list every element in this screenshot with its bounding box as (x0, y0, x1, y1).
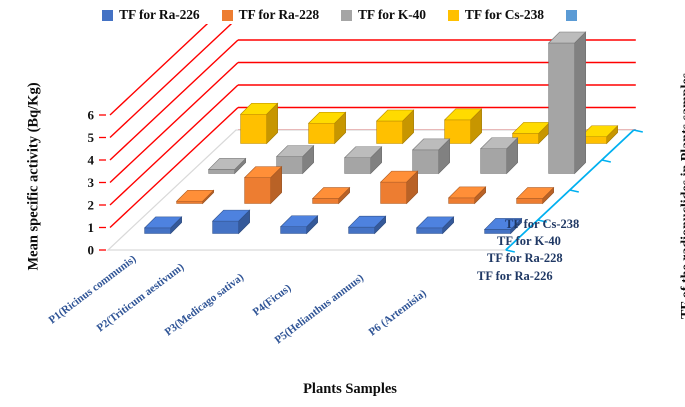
legend-item-cs-238[interactable]: TF for Cs-238 (448, 7, 544, 23)
legend-item-extra[interactable] (566, 10, 583, 21)
legend-swatch-extra (566, 10, 577, 21)
bar-tf-for-cs-238-cat1[interactable] (241, 103, 278, 143)
legend-item-k-40[interactable]: TF for K-40 (341, 7, 426, 23)
y-tick-1: 1 (88, 220, 95, 235)
bar-tf-for-k-40-cat4[interactable] (413, 139, 450, 174)
x-axis-label-3: P3(Medicago sativa) (163, 271, 247, 338)
y-ticks-group: 6543210 (88, 108, 107, 258)
x-axis-label-6: P6 (Artemisia) (367, 287, 429, 338)
z-axis-label-1: TF for Cs-238 (505, 217, 579, 231)
y-tick-2: 2 (88, 198, 95, 213)
bar-tf-for-k-40-cat5[interactable] (481, 138, 518, 174)
legend-label-ra-226: TF for Ra-226 (119, 7, 199, 23)
x-labels-group: P1(Ricinus communis)P2(Triticum aestivum… (47, 253, 429, 347)
legend-item-ra-226[interactable]: TF for Ra-226 (102, 7, 199, 23)
chart-root: TF for Ra-226 TF for Ra-228 TF for K-40 … (0, 0, 685, 407)
legend-label-k-40: TF for K-40 (358, 7, 426, 23)
z-axis-label-3: TF for Ra-228 (487, 251, 563, 265)
bar-tf-for-k-40-cat6[interactable] (549, 32, 586, 174)
bar-tf-for-ra-228-cat2[interactable] (245, 167, 282, 204)
x-axis-label-4: P4(Ficus) (251, 282, 294, 319)
y-tick-3: 3 (88, 175, 95, 190)
legend-swatch-k-40 (341, 10, 352, 21)
legend-swatch-ra-228 (222, 10, 233, 21)
legend-label-ra-228: TF for Ra-228 (239, 7, 319, 23)
legend-item-ra-228[interactable]: TF for Ra-228 (222, 7, 319, 23)
y-tick-0: 0 (88, 243, 95, 258)
legend-swatch-ra-226 (102, 10, 113, 21)
bar-tf-for-cs-238-cat4[interactable] (445, 109, 482, 144)
legend-swatch-cs-238 (448, 10, 459, 21)
y-tick-5: 5 (88, 130, 95, 145)
legend-label-cs-238: TF for Cs-238 (465, 7, 544, 23)
z-axis-label-4: TF for Ra-226 (477, 269, 553, 283)
plot-area: 6543210 P1(Ricinus communis)P2(Triticum … (0, 24, 685, 384)
z-axis-label-2: TF for K-40 (497, 234, 561, 248)
y-tick-4: 4 (88, 153, 95, 168)
chart-canvas: 6543210 P1(Ricinus communis)P2(Triticum … (0, 24, 685, 384)
y-tick-6: 6 (88, 108, 95, 123)
